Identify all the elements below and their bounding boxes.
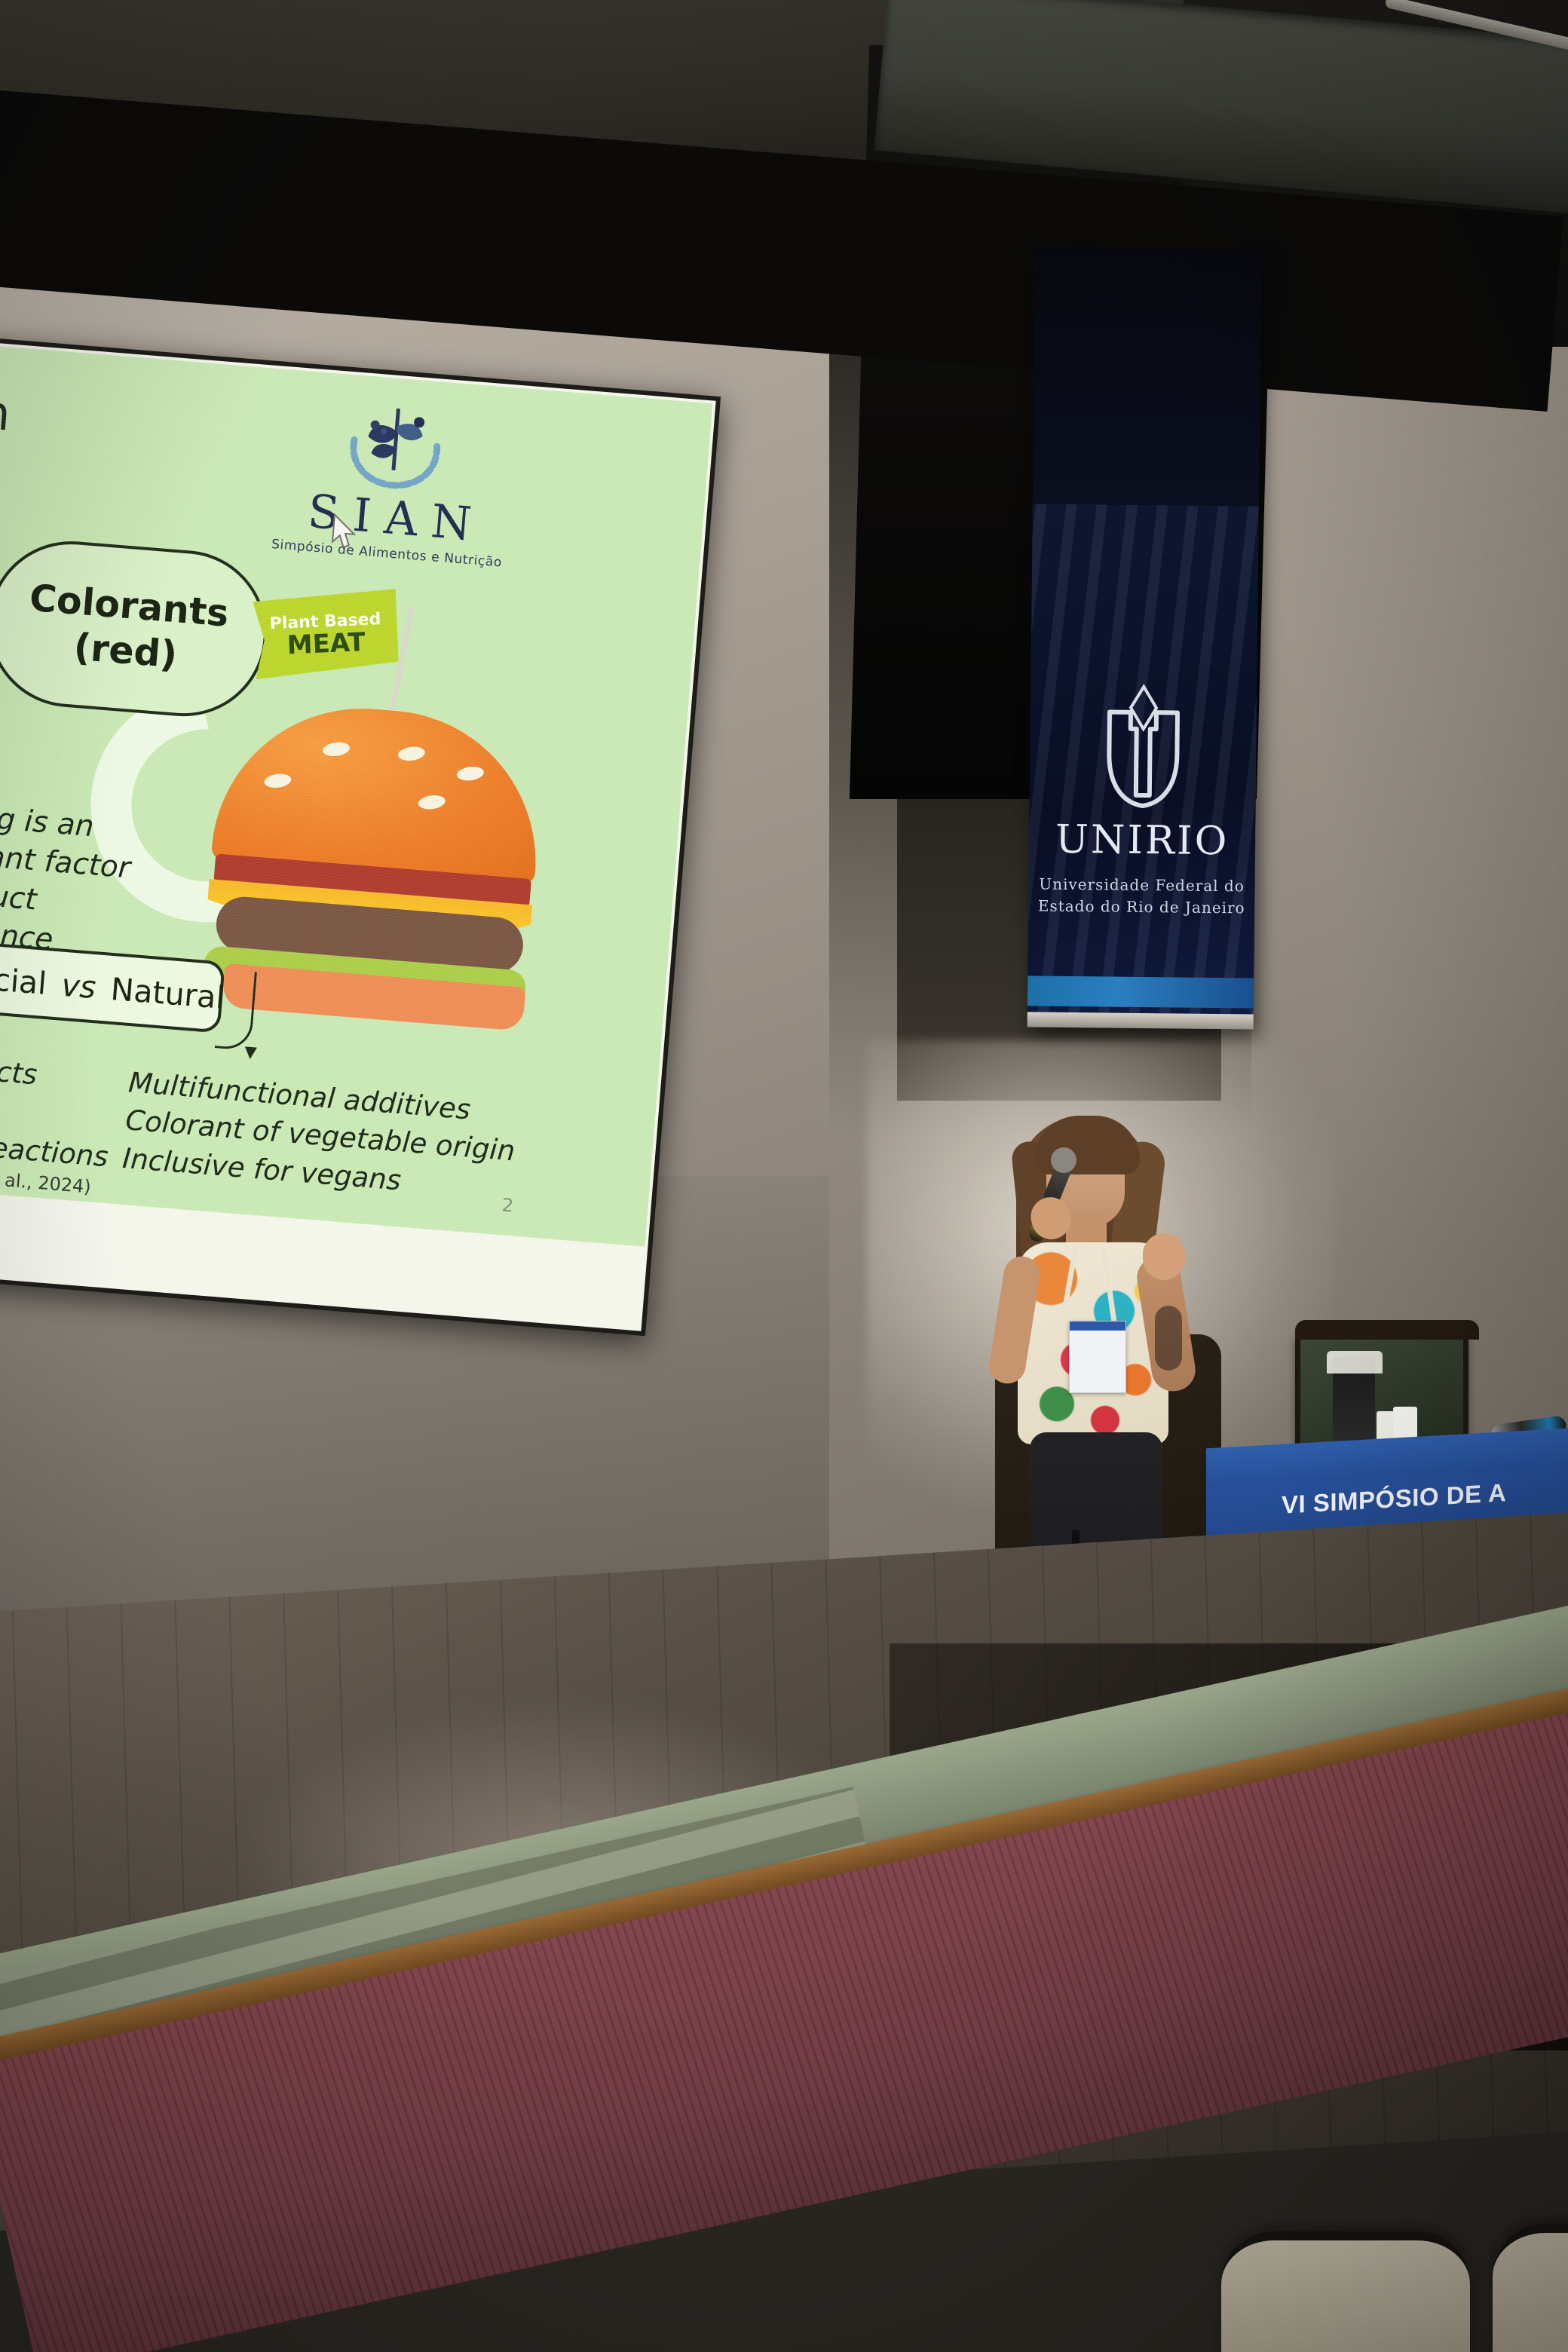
unirio-banner: UNIRIO Universidade Federal do Estado do… (1027, 247, 1262, 1029)
natural-label: Natural (109, 970, 226, 1015)
colorants-label: Colorants (28, 576, 231, 637)
banner-shadow-top (1033, 247, 1262, 506)
slide-page-number: 2 (501, 1194, 514, 1216)
conference-badge (1069, 1321, 1126, 1393)
slide-content: troduction based meat) 38%) Colorants (r… (0, 332, 712, 1247)
artificial-label: Artificial (0, 955, 48, 1001)
unirio-subtitle: Universidade Federal do Estado do Rio de… (1028, 873, 1255, 919)
projection-screen: troduction based meat) 38%) Colorants (r… (0, 324, 721, 1336)
plant-based-meat-flag: Plant Based MEAT (253, 589, 400, 679)
pitcher-lace-cover (1327, 1351, 1383, 1374)
colorants-pill: Colorants (red) (0, 535, 273, 723)
unirio-wordmark: UNIRIO (1029, 816, 1256, 864)
presentation-photo-scene: troduction based meat) 38%) Colorants (r… (0, 0, 1568, 2352)
slide-title: troduction (0, 367, 13, 442)
banner-accent-strip (1027, 975, 1254, 1008)
natural-points-list: Multifunctional additives Colorant of ve… (121, 1064, 521, 1208)
arrow-head-right (244, 1046, 257, 1059)
flag-line-2: MEAT (286, 629, 366, 658)
speaker-hand-right (1143, 1233, 1185, 1280)
colorants-sublabel: (red) (72, 625, 179, 678)
sian-logo: SIAN Simpósio de Alimentos e Nutrição (259, 391, 523, 607)
sian-plant-icon (335, 397, 455, 495)
auditorium-seat (1221, 2231, 1470, 2352)
burger-bun-top (211, 697, 547, 885)
unirio-subtitle-line-1: Universidade Federal do (1028, 873, 1254, 897)
banner-base-bar (1027, 1012, 1260, 1029)
unirio-logo-icon (1086, 681, 1201, 811)
coloring-note: Coloring is an important factor in produ… (0, 792, 165, 968)
vs-icon: vs (60, 966, 97, 1006)
mouse-cursor-icon (330, 513, 359, 552)
speaker-arm-tattoo (1155, 1306, 1182, 1370)
auditorium-seat (1493, 2224, 1568, 2352)
unirio-subtitle-line-2: Estado do Rio de Janeiro (1028, 895, 1254, 919)
